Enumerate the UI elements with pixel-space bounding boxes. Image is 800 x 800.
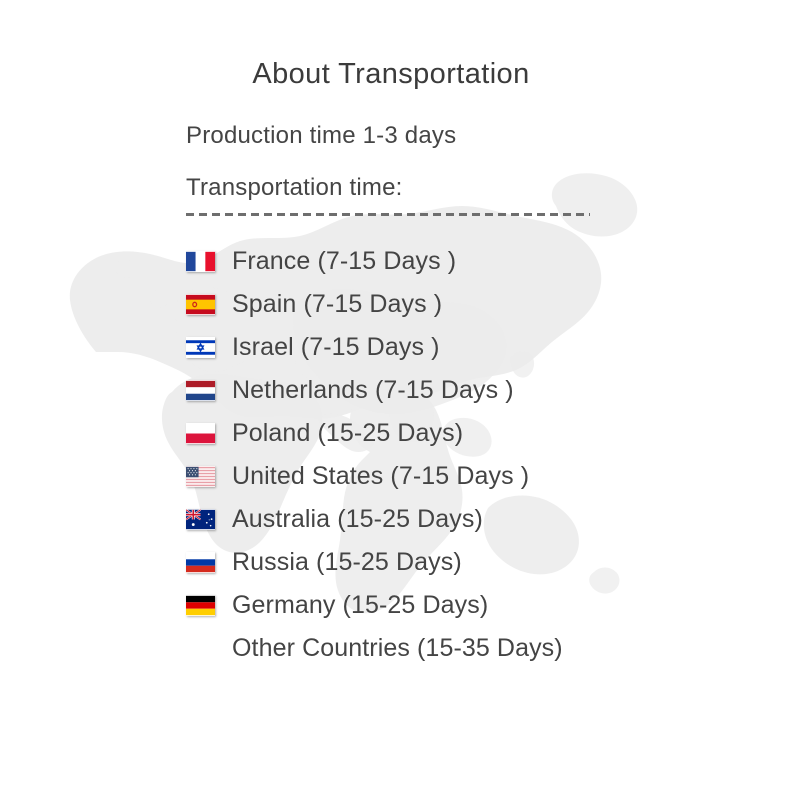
flag-germany-icon [186,595,215,616]
transportation-info-page: About Transportation Production time 1-3… [0,0,800,800]
list-item: Germany (15-25 Days) [186,584,746,627]
flag-spain-icon [186,294,215,315]
flag-slot [186,455,232,498]
list-item: Other Countries (15-35 Days) [186,627,746,670]
flag-slot [186,541,232,584]
flag-slot [186,240,232,283]
production-time-text: Production time 1-3 days [186,122,456,150]
page-title-text: About Transportation [252,58,529,90]
country-label: Spain (7-15 Days ) [232,292,442,317]
country-label: Israel (7-15 Days ) [232,335,440,360]
flag-netherlands-icon [186,380,215,401]
flag-slot-empty [186,627,232,670]
country-label: Australia (15-25 Days) [232,507,483,532]
country-label: Other Countries (15-35 Days) [232,636,563,661]
country-shipping-list: France (7-15 Days ) Spain (7-15 Days ) [186,240,746,670]
transportation-time-label: Transportation time: [186,174,403,202]
flag-slot [186,498,232,541]
flag-slot [186,283,232,326]
flag-australia-icon [186,509,215,530]
list-item: Spain (7-15 Days ) [186,283,746,326]
country-label: Germany (15-25 Days) [232,593,488,618]
flag-russia-icon [186,552,215,573]
flag-slot [186,326,232,369]
list-item: France (7-15 Days ) [186,240,746,283]
list-item: Australia (15-25 Days) [186,498,746,541]
flag-slot [186,412,232,455]
flag-poland-icon [186,423,215,444]
flag-france-icon [186,251,215,272]
country-label: Netherlands (7-15 Days ) [232,378,514,403]
dashed-divider [186,213,590,216]
list-item: Israel (7-15 Days ) [186,326,746,369]
flag-slot [186,584,232,627]
country-label: Poland (15-25 Days) [232,421,463,446]
country-label: France (7-15 Days ) [232,249,456,274]
list-item: United States (7-15 Days ) [186,455,746,498]
list-item: Russia (15-25 Days) [186,541,746,584]
flag-israel-icon [186,337,215,358]
list-item: Poland (15-25 Days) [186,412,746,455]
content-layer: About Transportation Production time 1-3… [0,0,800,800]
list-item: Netherlands (7-15 Days ) [186,369,746,412]
flag-slot [186,369,232,412]
country-label: United States (7-15 Days ) [232,464,529,489]
page-title: About Transportation [0,58,800,91]
country-label: Russia (15-25 Days) [232,550,462,575]
flag-united-states-icon [186,466,215,487]
